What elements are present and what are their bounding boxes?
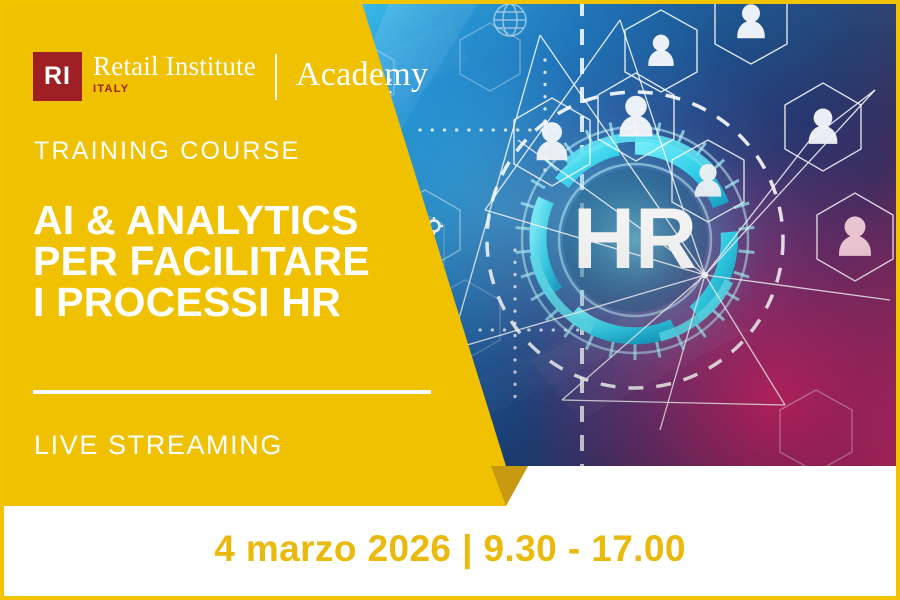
- brand-logo: RI Retail Institute ITALY Academy: [33, 52, 428, 102]
- event-date-time: 4 marzo 2026 | 9.30 - 17.00: [0, 528, 900, 570]
- promo-banner: HR: [0, 0, 900, 600]
- eyebrow-label: TRAINING COURSE: [34, 137, 300, 166]
- logo-separator: [275, 54, 277, 100]
- logo-institute-name: Retail Institute: [93, 52, 256, 81]
- logo-country: ITALY: [93, 82, 256, 96]
- course-title-line-2: PER FACILITARE: [33, 241, 370, 282]
- section-divider: [33, 390, 431, 394]
- logo-monogram: RI: [33, 52, 82, 101]
- delivery-format: LIVE STREAMING: [34, 430, 283, 461]
- course-title: AI & ANALYTICS PER FACILITARE I PROCESSI…: [33, 200, 370, 323]
- logo-wordmark: Retail Institute ITALY: [93, 52, 256, 96]
- logo-academy: Academy: [296, 52, 428, 98]
- course-title-line-3: I PROCESSI HR: [33, 282, 370, 323]
- course-title-line-1: AI & ANALYTICS: [33, 200, 370, 241]
